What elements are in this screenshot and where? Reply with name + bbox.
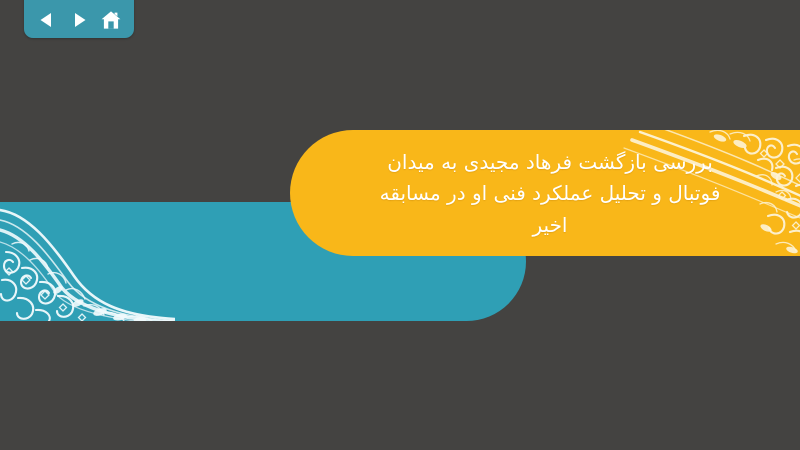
slide-canvas: بررسی بازگشت فرهاد مجیدی به میدان فوتبال… [0, 0, 800, 450]
back-button[interactable] [33, 7, 61, 33]
persian-floral-corner-ornament [0, 202, 175, 321]
home-button[interactable] [97, 7, 125, 33]
forward-button[interactable] [65, 7, 93, 33]
triangle-left-icon [37, 10, 57, 30]
title-line-3: اخیر [533, 210, 568, 242]
navigation-toolbar [24, 0, 134, 38]
title-line-2: فوتبال و تحلیل عملکرد فنی او در مسابقه [380, 178, 721, 210]
slide-title: بررسی بازگشت فرهاد مجیدی به میدان فوتبال… [290, 130, 800, 256]
house-icon [100, 10, 122, 31]
title-panel: بررسی بازگشت فرهاد مجیدی به میدان فوتبال… [290, 130, 800, 256]
triangle-right-icon [69, 10, 89, 30]
title-line-1: بررسی بازگشت فرهاد مجیدی به میدان [387, 147, 713, 179]
